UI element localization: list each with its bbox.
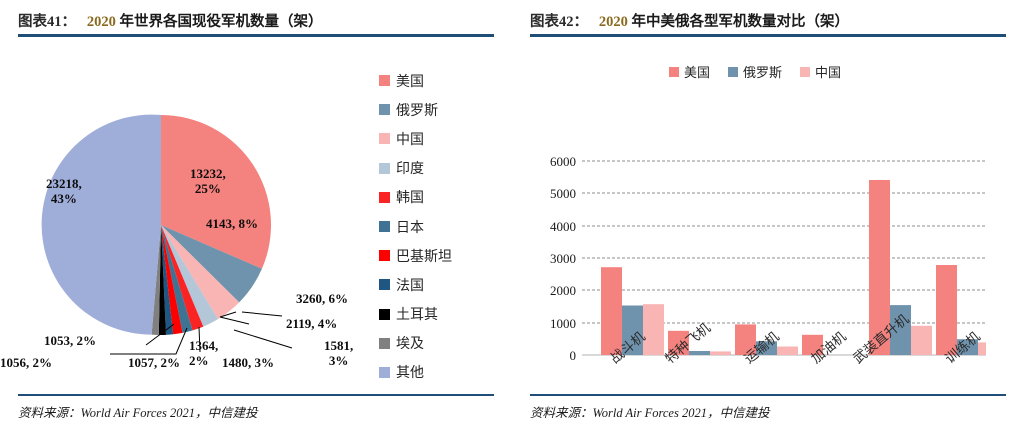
- y-tick-label: 0: [570, 348, 577, 363]
- legend-swatch-icon: [800, 67, 810, 77]
- pie-legend-label: 美国: [396, 71, 424, 91]
- pie-label-qita: 23218, 43%: [46, 177, 82, 206]
- pie-legend-label: 土耳其: [396, 304, 438, 324]
- figure-42-title-prefix: 图表42：: [530, 14, 588, 30]
- pie-legend-item-bajisitan[interactable]: 巴基斯坦: [379, 241, 499, 270]
- pie-legend-item-meiguo[interactable]: 美国: [379, 66, 499, 95]
- pie-legend-label: 巴基斯坦: [396, 246, 452, 266]
- bar-legend-item-meiguo[interactable]: 美国: [669, 62, 710, 81]
- bar-legend-label: 俄罗斯: [743, 62, 782, 81]
- pie-legend-label: 埃及: [396, 333, 424, 353]
- pie-slice-qita: [42, 115, 161, 335]
- figure-42-panel: 图表42： 2020 年中美俄各型军机数量对比（架） 美国 俄罗斯 中国: [512, 0, 1024, 429]
- y-tick-label: 5000: [550, 186, 576, 201]
- pie-legend-label: 其他: [396, 362, 424, 382]
- legend-swatch-icon: [379, 309, 390, 320]
- bar-legend: 美国 俄罗斯 中国: [520, 62, 990, 81]
- bar-chart: 美国 俄罗斯 中国 6000 500: [520, 58, 1016, 388]
- y-tick-label: 6000: [550, 154, 576, 169]
- bar-zhongguo: [777, 347, 798, 356]
- legend-swatch-icon: [669, 67, 679, 77]
- figure-41-title-prefix: 图表41：: [18, 14, 76, 30]
- pie-legend-label: 俄罗斯: [396, 100, 438, 120]
- bar-legend-label: 美国: [684, 62, 710, 81]
- legend-swatch-icon: [379, 250, 390, 261]
- bar-legend-item-zhongguo[interactable]: 中国: [800, 62, 841, 81]
- figure-42-title-year: 2020: [599, 14, 628, 30]
- pie-label-eluosi: 4143, 8%: [206, 217, 258, 232]
- y-tick-label: 3000: [550, 251, 576, 266]
- pie-label-faguo: 1057, 2%: [128, 356, 180, 371]
- pie-label-meiguo: 13232, 25%: [190, 167, 226, 196]
- pie-label-yindu: 2119, 4%: [286, 317, 337, 332]
- legend-swatch-icon: [379, 133, 390, 144]
- legend-swatch-icon: [728, 67, 738, 77]
- legend-swatch-icon: [379, 338, 390, 349]
- pie-legend-label: 印度: [396, 158, 424, 178]
- legend-swatch-icon: [379, 192, 390, 203]
- figure-41-source: 资料来源：World Air Forces 2021，中信建投: [18, 402, 257, 421]
- bar-legend-item-eluosi[interactable]: 俄罗斯: [728, 62, 782, 81]
- pie-legend-item-riben[interactable]: 日本: [379, 212, 499, 241]
- figure-42-title-rest: 年中美俄各型军机数量对比（架）: [632, 14, 850, 30]
- legend-swatch-icon: [379, 104, 390, 115]
- pie-label-hanguo: 1581, 3%: [324, 339, 353, 368]
- pie-legend-item-zhongguo[interactable]: 中国: [379, 124, 499, 153]
- bar-zhongguo: [911, 326, 932, 355]
- pie-legend-label: 韩国: [396, 187, 424, 207]
- bar-eluosi: [689, 351, 710, 355]
- figure-41-title-rule: [18, 34, 494, 37]
- figure-42-source: 资料来源：World Air Forces 2021，中信建投: [530, 402, 769, 421]
- pie-legend-item-yindu[interactable]: 印度: [379, 154, 499, 183]
- pie-legend-item-faguo[interactable]: 法国: [379, 270, 499, 299]
- legend-swatch-icon: [379, 279, 390, 290]
- pie-label-zhongguo: 3260, 6%: [296, 292, 348, 307]
- pie-label-tuerqi: 1053, 2%: [44, 334, 96, 349]
- figure-41-panel: 图表41： 2020 年世界各国现役军机数量（架）: [0, 0, 512, 429]
- pie-legend-item-hanguo[interactable]: 韩国: [379, 183, 499, 212]
- figure-41-title: 图表41： 2020 年世界各国现役军机数量（架）: [18, 10, 502, 31]
- pie-label-riben: 1480, 3%: [222, 356, 274, 371]
- pie-legend-item-tuerqi[interactable]: 土耳其: [379, 300, 499, 329]
- y-tick-label: 1000: [550, 316, 576, 331]
- bar-zhongguo: [978, 342, 986, 355]
- legend-swatch-icon: [379, 163, 390, 174]
- bar-chart-svg: 6000 5000 4000 3000 2000 1000 0: [520, 84, 1000, 384]
- bar-meiguo: [936, 265, 957, 355]
- figure-42-title: 图表42： 2020 年中美俄各型军机数量对比（架）: [530, 10, 1014, 31]
- bar-zhongguo: [643, 304, 664, 355]
- bar-zhongguo: [710, 351, 731, 355]
- figure-41-title-rest: 年世界各国现役军机数量（架）: [120, 14, 323, 30]
- figure-41-footer-rule: [18, 394, 494, 397]
- pie-legend-item-qita[interactable]: 其他: [379, 358, 499, 387]
- bar-legend-label: 中国: [815, 62, 841, 81]
- figure-42-title-rule: [530, 34, 1006, 37]
- legend-swatch-icon: [379, 75, 390, 86]
- pie-legend-item-aiji[interactable]: 埃及: [379, 329, 499, 358]
- y-tick-label: 4000: [550, 219, 576, 234]
- figure-41-title-year: 2020: [87, 14, 116, 30]
- bar-gridlines: [582, 161, 986, 323]
- pie-label-aiji: 1056, 2%: [0, 356, 52, 371]
- figure-42-footer-rule: [530, 394, 1006, 397]
- bar-meiguo: [601, 267, 622, 355]
- pie-legend-label: 中国: [396, 129, 424, 149]
- pie-chart: 13232, 25% 4143, 8% 3260, 6% 2119, 4% 15…: [24, 62, 494, 392]
- pie-legend-item-eluosi[interactable]: 俄罗斯: [379, 95, 499, 124]
- legend-swatch-icon: [379, 221, 390, 232]
- legend-swatch-icon: [379, 367, 390, 378]
- pie-legend: 美国 俄罗斯 中国 印度 韩国 日本: [379, 66, 499, 387]
- pie-label-bajisitan: 1364, 2%: [189, 339, 218, 368]
- y-tick-label: 2000: [550, 283, 576, 298]
- pie-legend-label: 日本: [396, 217, 424, 237]
- pie-legend-label: 法国: [396, 275, 424, 295]
